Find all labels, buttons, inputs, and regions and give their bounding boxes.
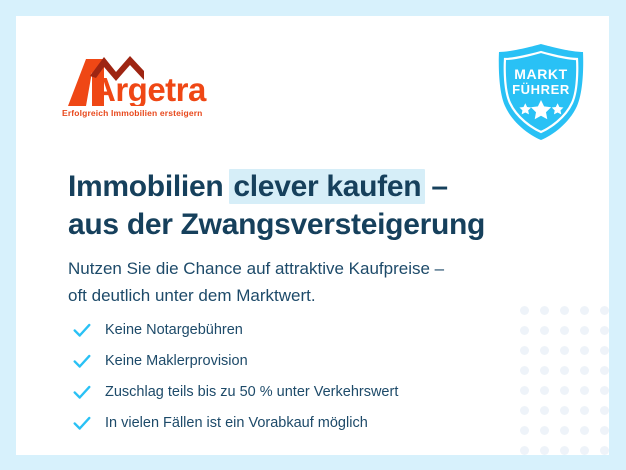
grid-dot [580, 426, 589, 435]
list-item: Keine Maklerprovision [71, 345, 541, 376]
grid-dot [600, 426, 609, 435]
grid-dot [540, 366, 549, 375]
grid-dot [600, 306, 609, 315]
grid-dot [560, 426, 569, 435]
grid-dot [560, 386, 569, 395]
subtitle: Nutzen Sie die Chance auf attraktive Kau… [68, 255, 548, 309]
logo-tagline: Erfolgreich Immobilien ersteigern [62, 108, 203, 118]
grid-dot [600, 406, 609, 415]
market-leader-badge[interactable]: MARKT FÜHRER [493, 42, 589, 142]
badge-line-1: MARKT [493, 66, 589, 82]
benefit-label: Keine Notargebühren [105, 322, 243, 338]
grid-dot [580, 346, 589, 355]
grid-dot [600, 386, 609, 395]
grid-dot [580, 446, 589, 455]
check-icon [71, 319, 93, 341]
grid-dot [540, 426, 549, 435]
benefit-label: In vielen Fällen ist ein Vorabkauf mögli… [105, 415, 368, 431]
grid-dot [520, 446, 529, 455]
grid-dot [560, 406, 569, 415]
svg-text:Argetra: Argetra [92, 71, 207, 106]
benefit-label: Keine Maklerprovision [105, 353, 248, 369]
grid-dot [540, 446, 549, 455]
check-icon [71, 381, 93, 403]
roof-a-mark-icon: Argetra [60, 54, 210, 106]
grid-dot [540, 406, 549, 415]
grid-dot [600, 366, 609, 375]
benefit-list: Keine Notargebühren Keine Maklerprovisio… [71, 314, 541, 438]
list-item: Zuschlag teils bis zu 50 % unter Verkehr… [71, 376, 541, 407]
grid-dot [600, 446, 609, 455]
grid-dot [580, 306, 589, 315]
grid-dot [580, 366, 589, 375]
grid-dot [560, 326, 569, 335]
grid-dot [560, 346, 569, 355]
grid-dot [580, 406, 589, 415]
grid-dot [560, 366, 569, 375]
headline-part-pre: Immobilien [68, 170, 231, 203]
check-icon [71, 412, 93, 434]
grid-dot [540, 326, 549, 335]
grid-dot [600, 346, 609, 355]
headline-part-post: – [423, 170, 447, 203]
headline-highlight: clever kaufen [229, 169, 425, 204]
grid-dot [580, 326, 589, 335]
grid-dot [560, 306, 569, 315]
grid-dot [560, 446, 569, 455]
argetra-logo[interactable]: Argetra Erfolgreich Immobilien ersteiger… [60, 54, 220, 126]
promo-banner: Argetra Erfolgreich Immobilien ersteiger… [0, 0, 626, 470]
banner-card: Argetra Erfolgreich Immobilien ersteiger… [16, 16, 609, 455]
headline-line-1: Immobilien clever kaufen – [68, 168, 528, 206]
headline-line-2: aus der Zwangsversteigerung [68, 206, 528, 244]
grid-dot [540, 346, 549, 355]
page-title: Immobilien clever kaufen – aus der Zwang… [68, 168, 528, 244]
subtitle-line-2: oft deutlich unter dem Marktwert. [68, 282, 548, 309]
list-item: Keine Notargebühren [71, 314, 541, 345]
grid-dot [580, 386, 589, 395]
list-item: In vielen Fällen ist ein Vorabkauf mögli… [71, 407, 541, 438]
badge-line-2: FÜHRER [493, 82, 589, 97]
benefit-label: Zuschlag teils bis zu 50 % unter Verkehr… [105, 384, 398, 400]
grid-dot [600, 326, 609, 335]
grid-dot [540, 386, 549, 395]
subtitle-line-1: Nutzen Sie die Chance auf attraktive Kau… [68, 255, 548, 282]
check-icon [71, 350, 93, 372]
